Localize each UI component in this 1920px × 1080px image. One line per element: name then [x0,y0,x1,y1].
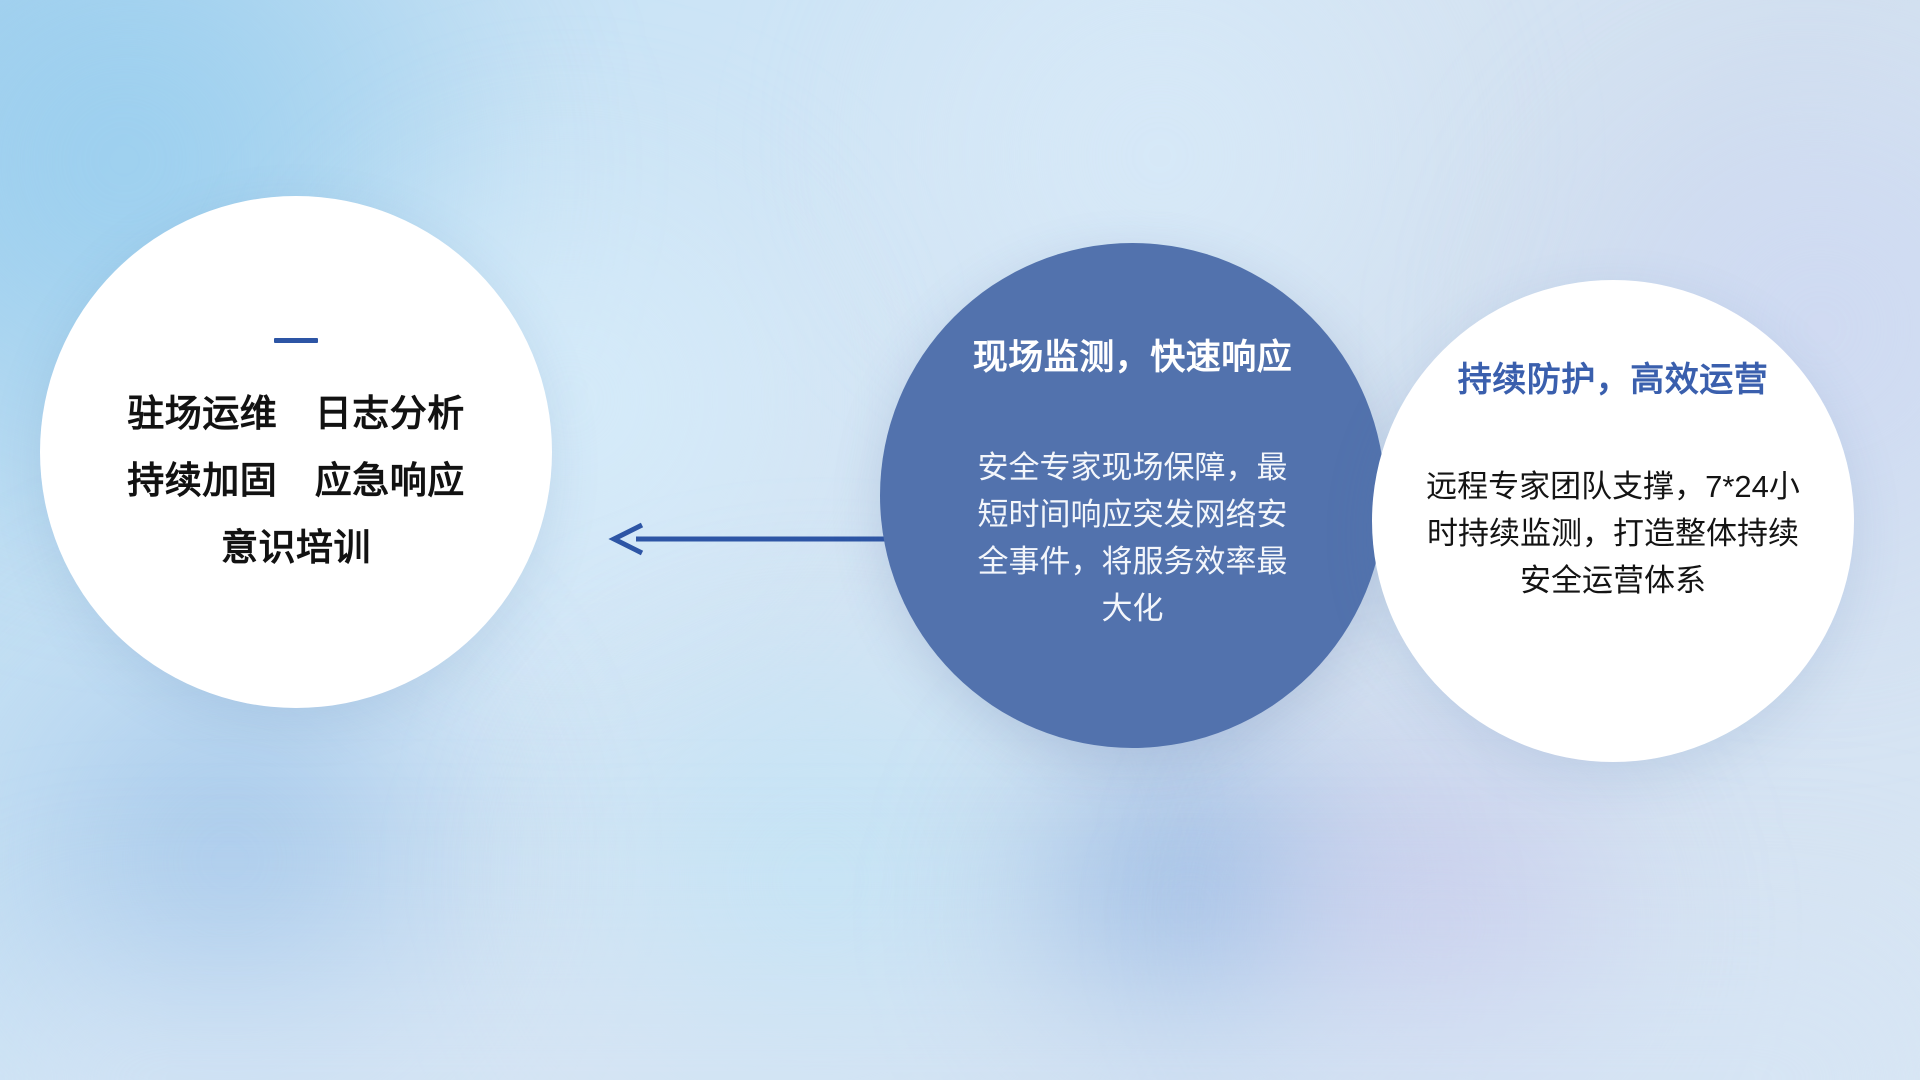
background-blob-bottom-blue [980,700,1400,1080]
continuous-protection-circle[interactable]: 持续防护，高效运营 远程专家团队支撑，7*24小时持续监测，打造整体持续安全运营… [1372,280,1854,762]
list-item: 驻场运维 日志分析 [127,395,465,432]
list-item: 意识培训 [221,529,371,566]
background-bottom-fade [0,860,1920,1080]
capabilities-list: 驻场运维 日志分析 持续加固 应急响应 意识培训 [127,395,465,566]
left-arrow-icon [608,521,908,557]
horizontal-dash-icon [274,338,318,343]
continuous-protection-title: 持续防护，高效运营 [1458,352,1769,401]
capabilities-circle[interactable]: 驻场运维 日志分析 持续加固 应急响应 意识培训 [40,196,552,708]
list-item: 持续加固 应急响应 [127,462,465,499]
continuous-protection-body: 远程专家团队支撑，7*24小时持续监测，打造整体持续安全运营体系 [1413,463,1813,604]
slide-canvas: 驻场运维 日志分析 持续加固 应急响应 意识培训 现场监测，快速响应 安全专家现… [0,0,1920,1080]
onsite-monitoring-title: 现场监测，快速响应 [973,329,1293,380]
onsite-monitoring-body: 安全专家现场保障，最短时间响应突发网络安全事件，将服务效率最大化 [968,444,1298,632]
onsite-monitoring-circle[interactable]: 现场监测，快速响应 安全专家现场保障，最短时间响应突发网络安全事件，将服务效率最… [880,243,1385,748]
